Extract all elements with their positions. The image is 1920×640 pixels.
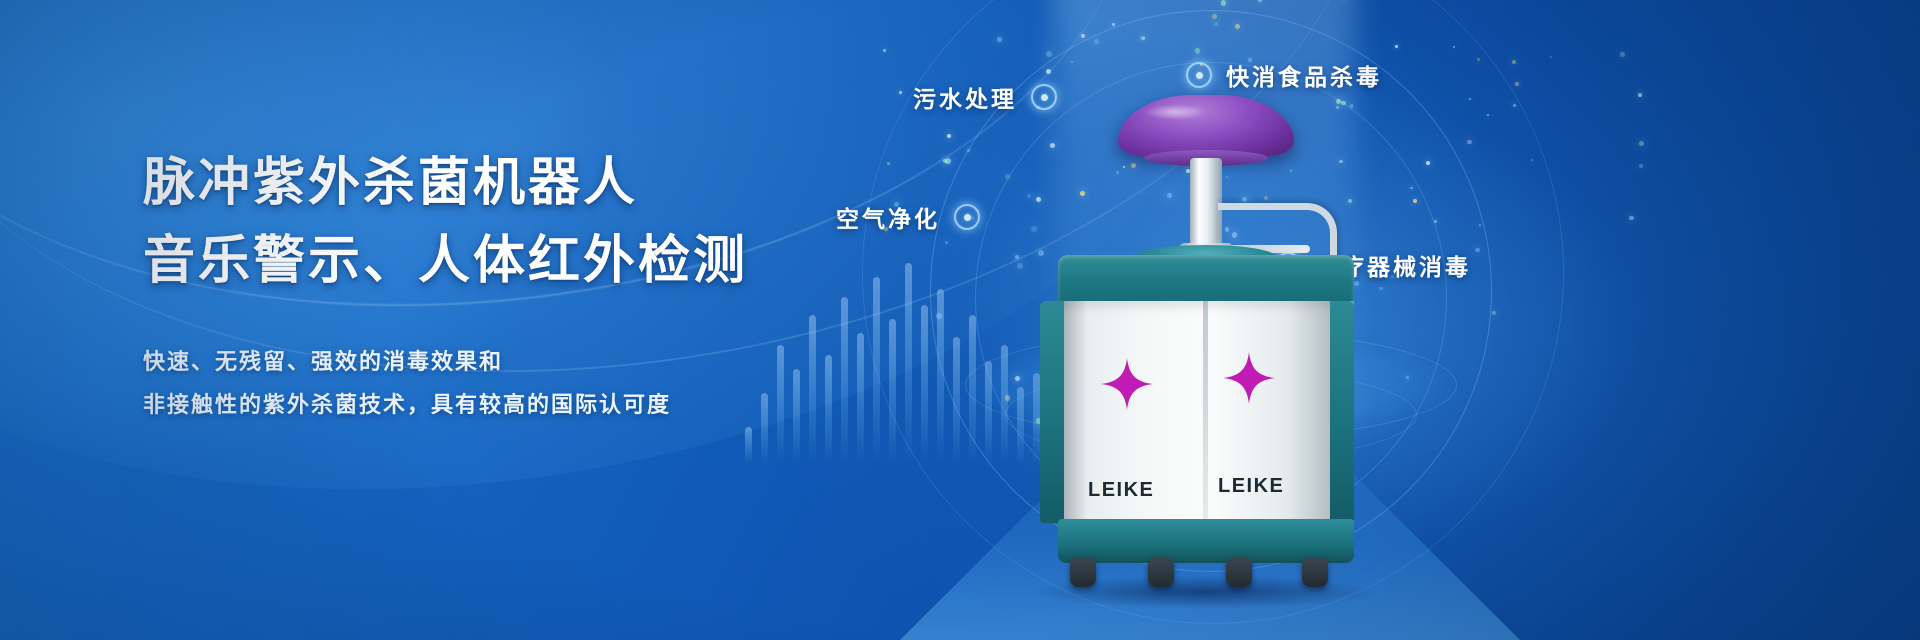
hero-banner: 脉冲紫外杀菌机器人 音乐警示、人体红外检测 快速、无残留、强效的消毒效果和 非接… [0,0,1920,640]
vignette-overlay [0,0,1920,640]
